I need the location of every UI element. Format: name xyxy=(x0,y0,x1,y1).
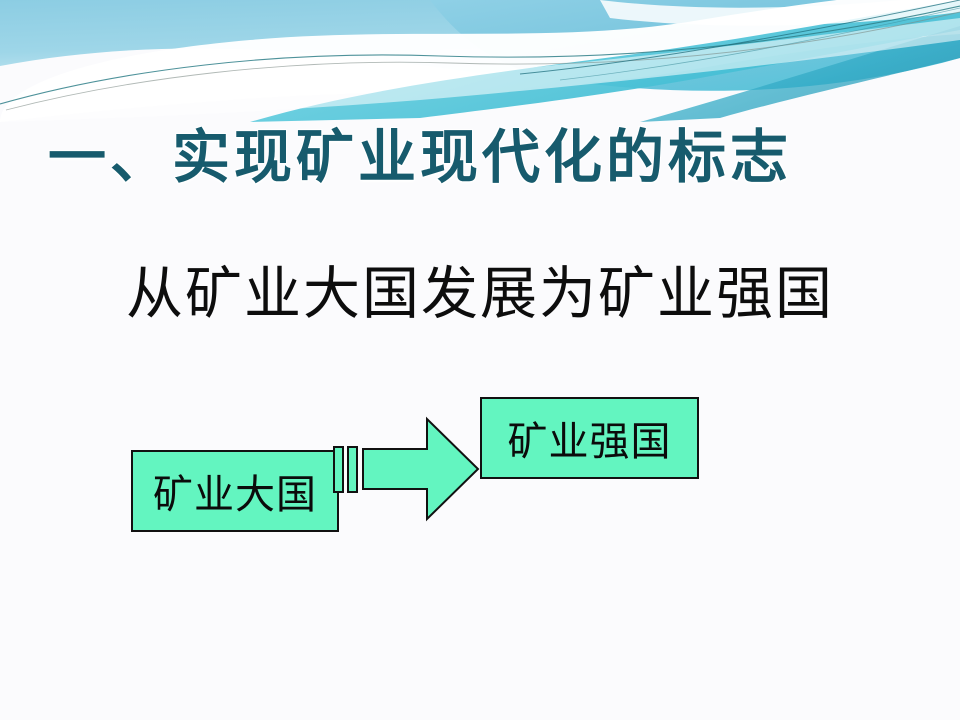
flow-box-source-label: 矿业大国 xyxy=(153,462,317,520)
presentation-slide: 一、实现矿业现代化的标志 从矿业大国发展为矿业强国 矿业大国 矿业强国 xyxy=(0,0,960,720)
flow-diagram: 矿业大国 矿业强国 xyxy=(120,385,720,550)
arrow-tail-bar-1 xyxy=(334,447,343,492)
wave-graphic xyxy=(0,0,960,122)
slide-title: 一、实现矿业现代化的标志 xyxy=(48,118,918,196)
flow-box-target: 矿业强国 xyxy=(480,397,699,479)
arrow-tail-bar-2 xyxy=(348,447,357,492)
slide-subtitle: 从矿业大国发展为矿业强国 xyxy=(0,248,960,330)
flow-arrow-right-icon xyxy=(332,407,484,527)
arrow-body xyxy=(363,419,478,519)
flow-box-source: 矿业大国 xyxy=(131,450,339,532)
header-wave-banner xyxy=(0,0,960,122)
flow-box-target-label: 矿业强国 xyxy=(508,409,672,467)
arrow-graphic xyxy=(332,407,484,527)
